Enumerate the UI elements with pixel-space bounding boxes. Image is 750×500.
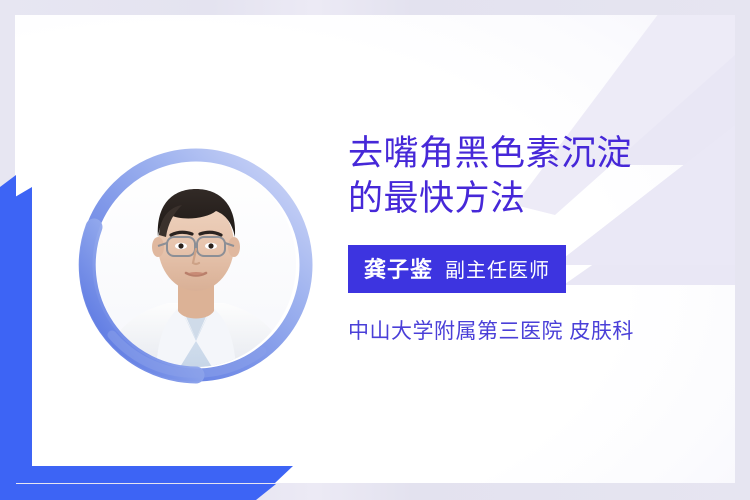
doctor-portrait (72, 139, 320, 391)
page-title: 去嘴角黑色素沉淀 的最快方法 (348, 131, 735, 221)
bottom-accent-bar (15, 466, 293, 483)
doctor-badge: 龚子鉴副主任医师 (348, 245, 566, 293)
portrait-ring (72, 139, 320, 391)
doctor-title: 副主任医师 (445, 260, 550, 282)
poster-card: 去嘴角黑色素沉淀 的最快方法 龚子鉴副主任医师 中山大学附属第三医院 皮肤科 (15, 15, 735, 483)
bottom-accent-bar-edge (0, 484, 276, 500)
left-accent-bar-edge (0, 175, 16, 500)
poster-canvas: 去嘴角黑色素沉淀 的最快方法 龚子鉴副主任医师 中山大学附属第三医院 皮肤科 (0, 0, 750, 500)
poster-content: 去嘴角黑色素沉淀 的最快方法 龚子鉴副主任医师 中山大学附属第三医院 皮肤科 (348, 131, 735, 345)
doctor-affiliation: 中山大学附属第三医院 皮肤科 (348, 315, 735, 345)
left-accent-bar (15, 187, 32, 483)
doctor-name: 龚子鉴 (364, 257, 433, 282)
